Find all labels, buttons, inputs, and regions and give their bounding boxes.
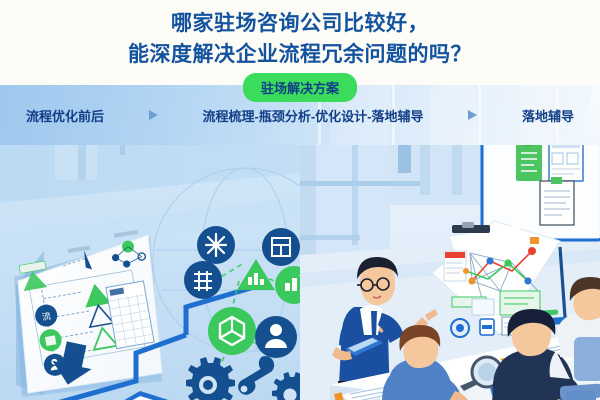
promo-banner: 哪家驻场咨询公司比较好， 能深度解决企业流程冗余问题的吗？ 流程优化前后 流程梳…	[0, 0, 600, 400]
process-step-2: 流程梳理-瓶颈分析-优化设计-落地辅导	[202, 106, 423, 125]
page-title: 哪家驻场咨询公司比较好， 能深度解决企业流程冗余问题的吗？	[0, 8, 600, 70]
right-arrow-icon	[149, 110, 158, 120]
icon-person	[255, 316, 297, 358]
sticky-note-green	[516, 140, 542, 181]
title-line-2: 能深度解决企业流程冗余问题的吗？	[0, 39, 600, 70]
status-badge: 驻场解决方案	[243, 73, 357, 102]
chair	[574, 337, 600, 381]
document-icon	[540, 177, 574, 225]
title-line-1: 哪家驻场咨询公司比较好，	[0, 8, 600, 39]
right-arrow-icon	[468, 110, 477, 120]
process-step-3: 落地辅导	[522, 106, 574, 125]
process-step-1: 流程优化前后	[26, 106, 104, 125]
